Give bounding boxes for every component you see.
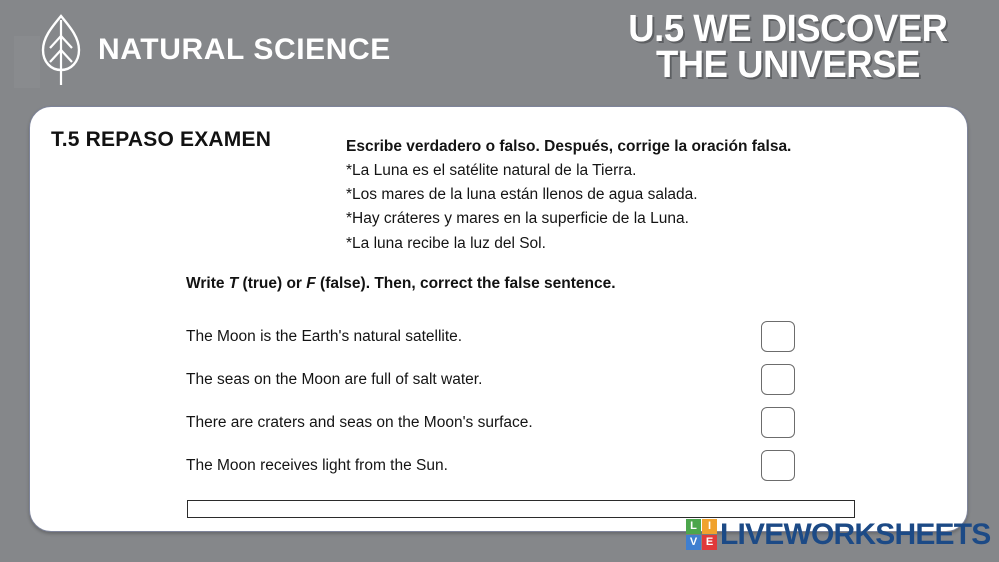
spanish-statement-4: *La luna recibe la luz del Sol. <box>346 232 791 256</box>
liveworksheets-logo: L I V E LIVEWORKSHEETS <box>686 519 991 550</box>
english-instruction: Write T (true) or F (false). Then, corre… <box>186 275 616 293</box>
answer-box-1[interactable] <box>761 321 795 352</box>
spanish-instructions-block: Escribe verdadero o falso. Después, corr… <box>346 135 791 256</box>
question-row: The Moon receives light from the Sun. <box>186 444 943 487</box>
live-tile-i: I <box>702 519 717 534</box>
page-title: T.5 REPASO EXAMEN <box>51 128 271 152</box>
english-instruction-false-letter: F <box>306 275 315 292</box>
brand-header: NATURAL SCIENCE <box>38 12 391 88</box>
answer-box-3[interactable] <box>761 407 795 438</box>
question-row: The seas on the Moon are full of salt wa… <box>186 358 943 401</box>
liveworksheets-wordmark: LIVEWORKSHEETS <box>720 520 991 550</box>
leaf-icon <box>38 12 84 88</box>
worksheet-card: T.5 REPASO EXAMEN Escribe verdadero o fa… <box>29 106 968 532</box>
spanish-heading: Escribe verdadero o falso. Después, corr… <box>346 135 791 159</box>
spanish-statement-3: *Hay cráteres y mares en la superficie d… <box>346 207 791 231</box>
question-text-4: The Moon receives light from the Sun. <box>186 457 448 475</box>
live-tile-e: E <box>702 535 717 550</box>
question-text-3: There are craters and seas on the Moon's… <box>186 414 533 432</box>
unit-title: U.5 WE DISCOVER THE UNIVERSE <box>628 12 947 83</box>
spanish-statement-1: *La Luna es el satélite natural de la Ti… <box>346 159 791 183</box>
correction-input[interactable] <box>187 500 855 518</box>
english-instruction-part3: (false). Then, correct the false sentenc… <box>316 275 616 292</box>
question-row: There are craters and seas on the Moon's… <box>186 401 943 444</box>
worksheet-screen: NATURAL SCIENCE U.5 WE DISCOVER THE UNIV… <box>0 0 999 562</box>
spanish-statement-2: *Los mares de la luna están llenos de ag… <box>346 183 791 207</box>
unit-title-line2: THE UNIVERSE <box>628 48 947 84</box>
question-text-1: The Moon is the Earth's natural satellit… <box>186 328 462 346</box>
header-decorative-panel <box>14 36 40 88</box>
answer-box-4[interactable] <box>761 450 795 481</box>
english-instruction-part1: Write <box>186 275 229 292</box>
question-text-2: The seas on the Moon are full of salt wa… <box>186 371 482 389</box>
english-instruction-true-letter: T <box>229 275 238 292</box>
english-instruction-part2: (true) or <box>238 275 306 292</box>
question-row: The Moon is the Earth's natural satellit… <box>186 315 943 358</box>
question-list: The Moon is the Earth's natural satellit… <box>186 315 943 487</box>
live-tile-l: L <box>686 519 701 534</box>
brand-name: NATURAL SCIENCE <box>98 33 391 67</box>
live-tiles-icon: L I V E <box>686 519 717 550</box>
answer-box-2[interactable] <box>761 364 795 395</box>
live-tile-v: V <box>686 535 701 550</box>
